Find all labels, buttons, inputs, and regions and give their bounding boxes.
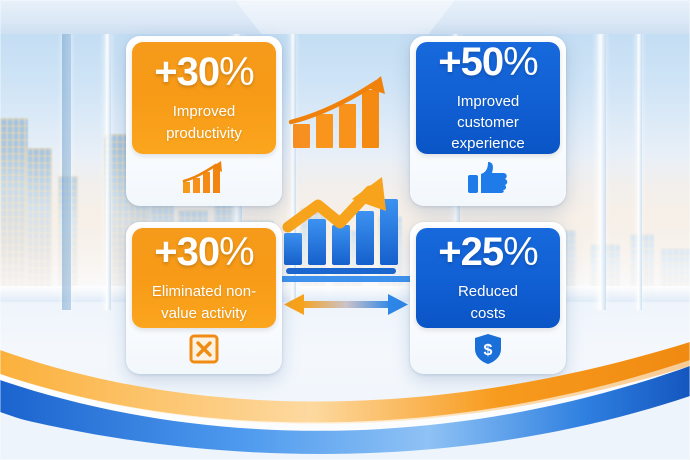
- thumbs-up-icon: [466, 161, 510, 200]
- infographic-canvas: +30% Improved productivity +50% Improved…: [0, 0, 690, 460]
- stat-percent: +25%: [438, 232, 537, 272]
- stat-percent: +30%: [154, 232, 253, 272]
- bar-chart-growth-icon: [181, 161, 227, 200]
- stat-label-line2: value activity: [153, 303, 255, 324]
- stat-card-improved-customer-experience[interactable]: +50% Improved customer experience: [410, 36, 566, 206]
- stat-label-line1: Reduced: [450, 281, 526, 302]
- window-mullion: [596, 0, 606, 310]
- stat-label-line2: costs: [462, 303, 513, 324]
- stat-card-icon-area: [410, 154, 566, 206]
- window-mullion: [62, 0, 71, 310]
- stat-card-icon-area: [126, 154, 282, 206]
- top-growth-chart-graphic: [285, 72, 405, 150]
- double-headed-arrow-graphic: [282, 292, 410, 318]
- stat-label-line2: customer experience: [416, 112, 560, 155]
- stat-card-improved-productivity[interactable]: +30% Improved productivity: [126, 36, 282, 206]
- window-mullion: [636, 0, 642, 310]
- stat-label-line1: Eliminated non-: [144, 281, 264, 302]
- stat-label-line1: Improved: [165, 101, 244, 122]
- office-ceiling: [0, 0, 690, 34]
- stat-percent: +50%: [438, 42, 537, 82]
- stat-card-header: +50% Improved customer experience: [416, 42, 560, 154]
- stat-card-header: +30% Eliminated non- value activity: [132, 228, 276, 328]
- stat-label-line2: productivity: [158, 123, 250, 144]
- main-growth-chart-graphic: [278, 175, 414, 285]
- window-mullion: [104, 0, 111, 310]
- stat-card-header: +30% Improved productivity: [132, 42, 276, 154]
- stat-card-header: +25% Reduced costs: [416, 228, 560, 328]
- stat-percent: +30%: [154, 52, 253, 92]
- stat-label-line1: Improved: [449, 91, 528, 112]
- decorative-wave-ribbons: [0, 340, 690, 460]
